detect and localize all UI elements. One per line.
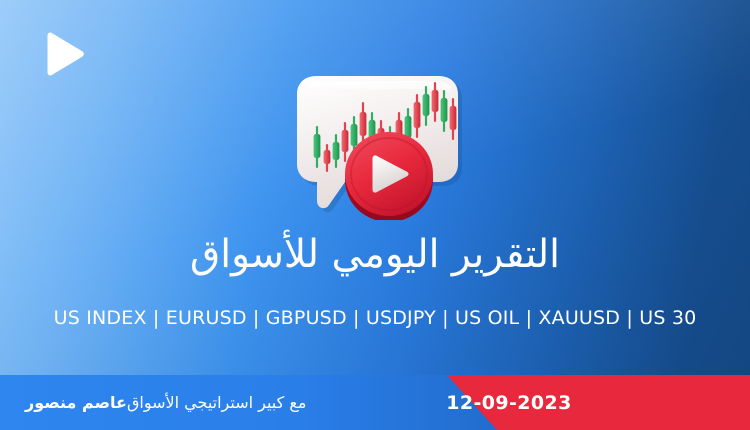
play-triangle-icon[interactable] (41, 31, 87, 77)
instrument-ticker: US INDEX | EURUSD | GBPUSD | USDJPY | US… (0, 305, 750, 331)
daily-market-report-banner: التقرير اليومي للأسواق US INDEX | EURUSD… (0, 0, 750, 430)
page-title: التقرير اليومي للأسواق (0, 232, 750, 278)
speech-bubble-candlestick-chart-icon (283, 72, 473, 220)
bottom-bar: مع كبير استراتيجي الأسواق عاصم منصور 12-… (0, 375, 750, 430)
report-date: 12-09-2023 (0, 375, 750, 430)
